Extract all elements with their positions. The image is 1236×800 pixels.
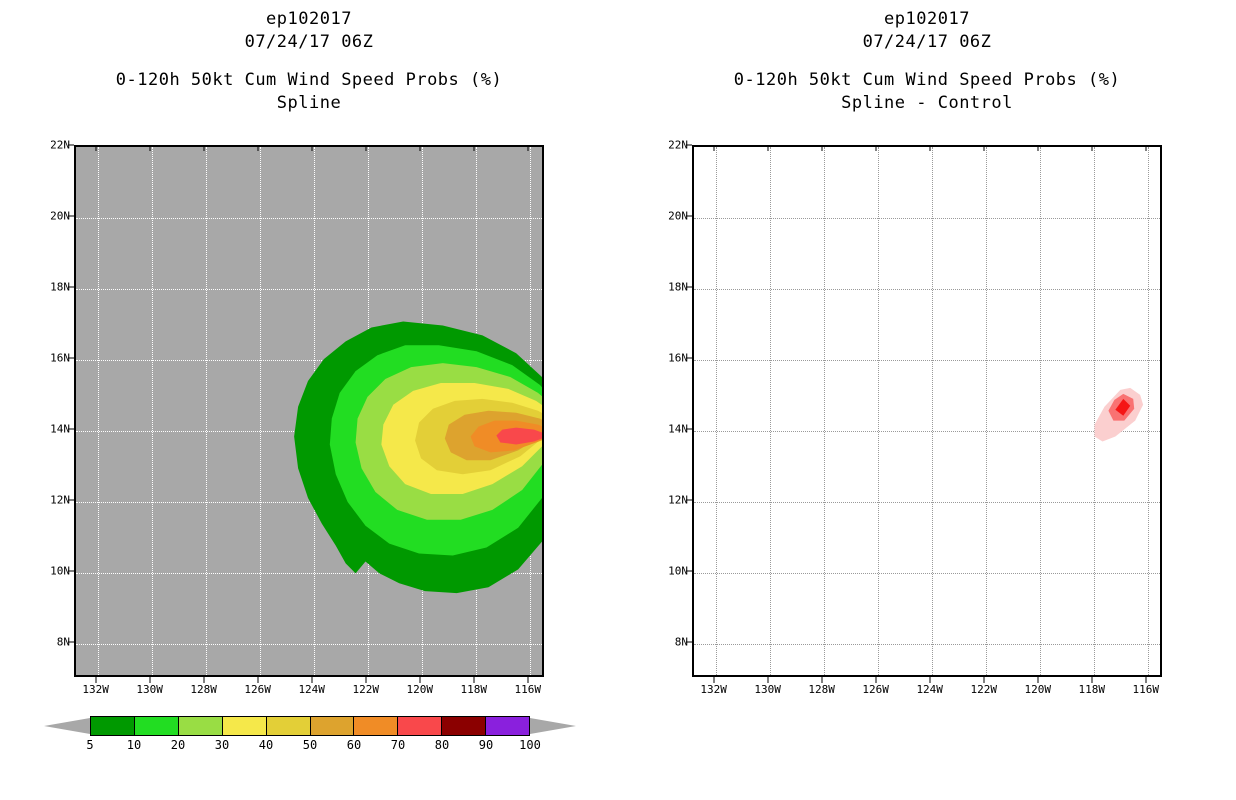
y-axis-tick-mark xyxy=(686,357,692,358)
x-axis-tick-label: 116W xyxy=(1133,683,1160,696)
y-axis-tick-mark xyxy=(68,357,74,358)
x-axis-tick-label: 132W xyxy=(700,683,727,696)
x-axis-tick-label: 128W xyxy=(190,683,217,696)
colorbar-swatch-1 xyxy=(135,717,179,735)
x-axis-tick-label: 122W xyxy=(970,683,997,696)
x-axis-tick-mark xyxy=(1145,677,1146,683)
y-axis-tick-mark xyxy=(686,641,692,642)
x-axis-tick-label: 116W xyxy=(515,683,542,696)
colorbar-tick: 40 xyxy=(259,738,273,752)
x-axis-tick-mark xyxy=(1091,677,1092,683)
x-axis-tick-mark xyxy=(473,677,474,683)
x-axis-tick-mark xyxy=(1037,677,1038,683)
x-axis-tick-mark-top xyxy=(473,145,474,151)
x-axis-tick-label: 132W xyxy=(82,683,109,696)
x-axis-tick-mark-top xyxy=(875,145,876,151)
panel-subtitle: Spline - Control xyxy=(618,92,1236,114)
difference-contours xyxy=(694,147,1160,674)
storm-id: ep102017 xyxy=(618,8,1236,30)
forecast-datetime: 07/24/17 06Z xyxy=(0,30,618,54)
x-axis-tick-mark xyxy=(365,677,366,683)
x-axis-tick-mark-top xyxy=(767,145,768,151)
y-axis-tick-mark xyxy=(686,570,692,571)
y-axis-tick-mark xyxy=(68,286,74,287)
probability-contours xyxy=(76,147,542,674)
probability-colorbar[interactable]: 5102030405060708090100 xyxy=(90,716,530,736)
panel-right-titles: ep102017 07/24/17 06Z 0-120h 50kt Cum Wi… xyxy=(618,8,1236,114)
panel-title: 0-120h 50kt Cum Wind Speed Probs (%) xyxy=(0,68,618,92)
x-axis-tick-label: 120W xyxy=(1024,683,1051,696)
panel-title: 0-120h 50kt Cum Wind Speed Probs (%) xyxy=(618,68,1236,92)
colorbar-tick: 90 xyxy=(479,738,493,752)
x-axis-tick-mark xyxy=(821,677,822,683)
storm-id: ep102017 xyxy=(0,8,618,30)
panel-subtitle: Spline xyxy=(0,92,618,114)
y-axis-tick-mark xyxy=(68,215,74,216)
x-axis-tick-mark xyxy=(875,677,876,683)
colorbar-swatch-7 xyxy=(398,717,442,735)
x-axis-tick-label: 128W xyxy=(808,683,835,696)
x-axis-tick-mark xyxy=(929,677,930,683)
map-frame xyxy=(74,145,544,677)
colorbar-tick: 20 xyxy=(171,738,185,752)
x-axis-tick-label: 130W xyxy=(136,683,163,696)
x-axis-tick-mark-top xyxy=(203,145,204,151)
x-axis-tick-mark-top xyxy=(1091,145,1092,151)
x-axis-tick-mark-top xyxy=(929,145,930,151)
y-axis-tick-mark xyxy=(68,428,74,429)
x-axis-tick-mark xyxy=(311,677,312,683)
y-axis-tick-mark xyxy=(68,570,74,571)
y-axis-tick-mark xyxy=(686,145,692,146)
x-axis-tick-mark-top xyxy=(419,145,420,151)
x-axis-tick-mark xyxy=(527,677,528,683)
map-area-spline: 22N20N18N16N14N12N10N8N132W130W128W126W1… xyxy=(74,145,544,677)
x-axis-tick-mark xyxy=(95,677,96,683)
panel-left-titles: ep102017 07/24/17 06Z 0-120h 50kt Cum Wi… xyxy=(0,8,618,114)
x-axis-tick-mark-top xyxy=(1037,145,1038,151)
colorbar-tick: 80 xyxy=(435,738,449,752)
x-axis-tick-label: 126W xyxy=(244,683,271,696)
panel-spline-minus-control: ep102017 07/24/17 06Z 0-120h 50kt Cum Wi… xyxy=(618,0,1236,800)
x-axis-tick-mark xyxy=(419,677,420,683)
x-axis-tick-mark-top xyxy=(983,145,984,151)
colorbar-swatch-8 xyxy=(442,717,486,735)
x-axis-tick-mark xyxy=(203,677,204,683)
y-axis-tick-mark xyxy=(68,641,74,642)
colorbar-swatch-9 xyxy=(486,717,529,735)
map-area-difference: 22N20N18N16N14N12N10N8N132W130W128W126W1… xyxy=(692,145,1162,677)
x-axis-tick-mark-top xyxy=(713,145,714,151)
x-axis-tick-mark xyxy=(713,677,714,683)
colorbar-swatch-5 xyxy=(311,717,355,735)
x-axis-tick-label: 122W xyxy=(352,683,379,696)
x-axis-tick-mark-top xyxy=(257,145,258,151)
x-axis-tick-mark-top xyxy=(1145,145,1146,151)
x-axis-tick-mark-top xyxy=(95,145,96,151)
colorbar-tick-labels: 5102030405060708090100 xyxy=(90,738,530,754)
colorbar-swatch-0 xyxy=(91,717,135,735)
colorbar-swatch-3 xyxy=(223,717,267,735)
x-axis-tick-label: 124W xyxy=(298,683,325,696)
x-axis-tick-mark xyxy=(767,677,768,683)
y-axis-tick-mark xyxy=(68,499,74,500)
colorbar-tick: 5 xyxy=(86,738,93,752)
x-axis-tick-label: 130W xyxy=(754,683,781,696)
y-axis-tick-mark xyxy=(68,145,74,146)
colorbar-swatches xyxy=(90,716,530,736)
colorbar-tick: 60 xyxy=(347,738,361,752)
forecast-datetime: 07/24/17 06Z xyxy=(618,30,1236,54)
panel-spline: ep102017 07/24/17 06Z 0-120h 50kt Cum Wi… xyxy=(0,0,618,800)
x-axis-tick-mark-top xyxy=(821,145,822,151)
x-axis-tick-label: 120W xyxy=(406,683,433,696)
y-axis-tick-mark xyxy=(686,286,692,287)
colorbar-tick: 70 xyxy=(391,738,405,752)
colorbar-tick: 50 xyxy=(303,738,317,752)
colorbar-tick: 100 xyxy=(519,738,541,752)
map-frame xyxy=(692,145,1162,677)
x-axis-tick-label: 124W xyxy=(916,683,943,696)
x-axis-tick-mark-top xyxy=(365,145,366,151)
y-axis-tick-mark xyxy=(686,215,692,216)
x-axis-tick-mark xyxy=(257,677,258,683)
y-axis-tick-mark xyxy=(686,428,692,429)
colorbar-under-arrow xyxy=(44,716,90,736)
x-axis-tick-mark xyxy=(149,677,150,683)
y-axis-tick-mark xyxy=(686,499,692,500)
colorbar-swatch-2 xyxy=(179,717,223,735)
colorbar-tick: 10 xyxy=(127,738,141,752)
x-axis-tick-label: 118W xyxy=(461,683,488,696)
x-axis-tick-mark-top xyxy=(149,145,150,151)
x-axis-tick-label: 118W xyxy=(1079,683,1106,696)
colorbar-over-arrow xyxy=(530,716,576,736)
colorbar-tick: 30 xyxy=(215,738,229,752)
x-axis-tick-mark-top xyxy=(527,145,528,151)
x-axis-tick-mark-top xyxy=(311,145,312,151)
colorbar-swatch-4 xyxy=(267,717,311,735)
colorbar-swatch-6 xyxy=(354,717,398,735)
x-axis-tick-label: 126W xyxy=(862,683,889,696)
x-axis-tick-mark xyxy=(983,677,984,683)
